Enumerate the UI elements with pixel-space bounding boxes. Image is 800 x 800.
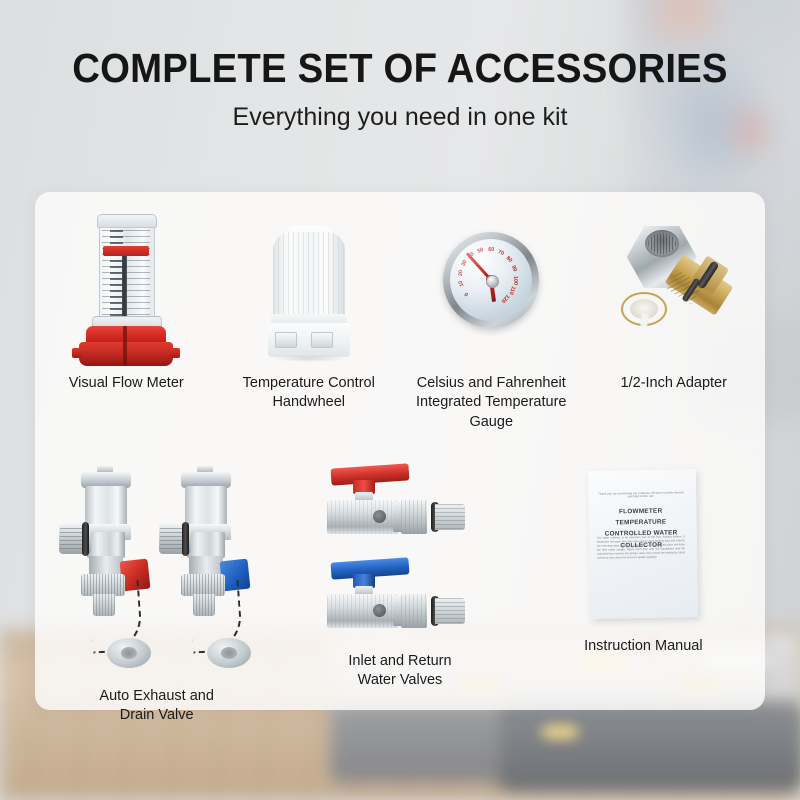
exhaust-valve-o-ring [82, 522, 89, 556]
product-caption: Temperature Control Handwheel [243, 374, 375, 413]
instruction-manual-image: Thank you for purchasing our products. P… [581, 462, 706, 627]
manual-title-line-1: FLOWMETER TEMPERATURE [592, 505, 688, 529]
exhaust-valve-cap-disc-center [121, 647, 137, 659]
exhaust-valve-midsection [87, 532, 125, 558]
product-row-2: Auto Exhaust and Drain Valve [35, 462, 765, 726]
product-row-1: Visual Flow Meter Temperature Control Ha… [35, 214, 765, 432]
gauge-glass-reflection [450, 239, 532, 321]
ball-valve-side-port [373, 604, 386, 617]
handwheel-window [311, 332, 333, 348]
adapter-nut-threads [648, 233, 676, 254]
handwheel-window [275, 332, 297, 348]
exhaust-valve-blue-unit [155, 462, 255, 677]
product-item-inlet-return-water-valves[interactable]: Inlet and Return Water Valves [278, 462, 521, 726]
handwheel-ribbed-body [273, 232, 345, 320]
product-caption: Inlet and Return Water Valves [348, 652, 451, 691]
ball-valve-side-port [373, 510, 386, 523]
product-item-temperature-control-handwheel[interactable]: Temperature Control Handwheel [218, 214, 401, 432]
exhaust-valve-red-unit [55, 462, 155, 677]
ball-valve-union-nut [401, 500, 427, 534]
product-item-half-inch-adapter[interactable]: 1/2-Inch Adapter [583, 214, 766, 432]
visual-flow-meter-image [66, 214, 186, 364]
product-item-visual-flow-meter[interactable]: Visual Flow Meter [35, 214, 218, 432]
ball-valve-union-nut [401, 594, 427, 628]
background-blur-spot [540, 724, 580, 740]
accessories-panel: Visual Flow Meter Temperature Control Ha… [35, 192, 765, 710]
flow-meter-float [103, 246, 149, 256]
flow-meter-base-tab [72, 348, 82, 358]
flow-meter-base-tab [170, 348, 180, 358]
flow-meter-base-slot [123, 326, 127, 366]
ball-valve-tail-piece [435, 598, 465, 624]
exhaust-valve-port-threads [160, 528, 182, 550]
page-title: COMPLETE SET OF ACCESSORIES [26, 48, 774, 89]
handwheel-shadow [271, 355, 347, 362]
product-item-auto-exhaust-drain-valve[interactable]: Auto Exhaust and Drain Valve [35, 462, 278, 726]
product-caption: 1/2-Inch Adapter [621, 374, 727, 393]
manual-body-text: The water collector is an important part… [597, 535, 685, 560]
gauge-dial-face: 0102030405060708090100110120 [450, 239, 532, 321]
exhaust-valve-midsection [187, 532, 225, 558]
adapter-split-ring-gap [640, 314, 649, 327]
flow-meter-stem [122, 254, 127, 316]
product-caption: Celsius and Fahrenheit Integrated Temper… [416, 374, 566, 432]
temperature-control-handwheel-image [249, 214, 369, 364]
ball-valve-tail-piece [435, 504, 465, 530]
exhaust-valve-cap-disc-center [221, 647, 237, 659]
product-item-instruction-manual[interactable]: Thank you for purchasing our products. P… [522, 462, 765, 726]
auto-exhaust-drain-valve-image [47, 462, 267, 677]
inlet-return-water-valves-image [315, 462, 485, 642]
exhaust-valve-o-ring [182, 522, 189, 556]
page-subtitle: Everything you need in one kit [0, 105, 800, 130]
ball-valve-body [327, 500, 399, 534]
temperature-gauge-image: 0102030405060708090100110120 [431, 214, 551, 364]
product-caption: Instruction Manual [584, 637, 702, 656]
half-inch-adapter-image [609, 214, 739, 364]
product-caption: Auto Exhaust and Drain Valve [99, 687, 213, 726]
ball-valve-blue-unit [315, 556, 485, 641]
product-caption: Visual Flow Meter [69, 374, 184, 393]
header-block: COMPLETE SET OF ACCESSORIES Everything y… [0, 48, 800, 130]
flow-meter-cap [97, 214, 157, 228]
product-item-temperature-gauge[interactable]: 0102030405060708090100110120 Celsius and… [400, 214, 583, 432]
ball-valve-red-unit [315, 462, 485, 547]
exhaust-valve-port-threads [60, 528, 82, 550]
ball-valve-body [327, 594, 399, 628]
